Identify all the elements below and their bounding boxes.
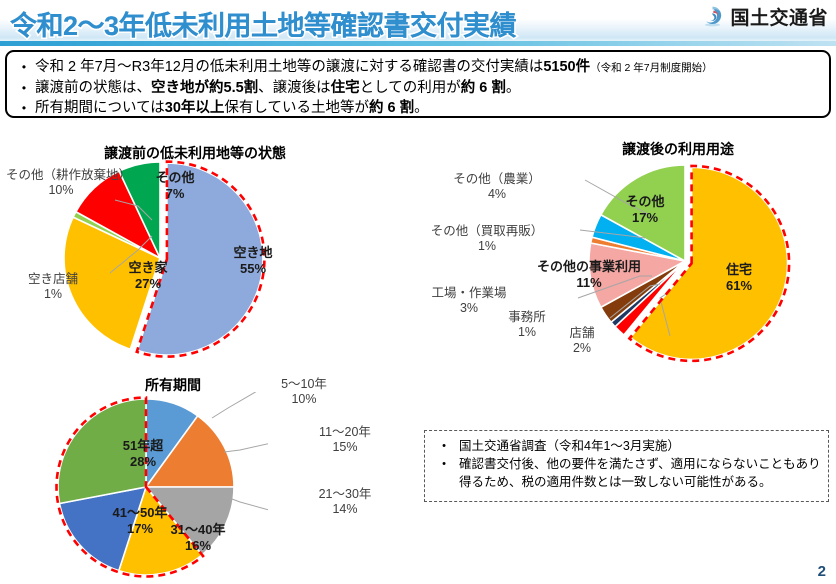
summary-text-run: 所有期間については [35,100,165,116]
slice-value-text: 55% [240,261,266,276]
slice-value-text: 4% [488,187,506,201]
slice-value-text: 7% [166,186,185,201]
slice-label-text: 31～40年 [171,522,226,537]
slice-value-text: 10% [291,392,316,406]
summary-text-run: 。 [506,80,521,96]
slice-value-text: 1% [44,287,62,301]
summary-text-run: 約 6 割 [369,100,414,116]
slice-label-text: 空き店舗 [28,272,78,286]
slice-label-text: その他（農業） [453,172,541,186]
slice-value-text: 27% [135,276,161,291]
bullet-glyph: • [429,455,459,473]
chart-title-after-use: 譲渡後の利用用途 [588,139,768,159]
footnote-row: • 国土交通省調査（令和4年1～3月実施） [429,437,824,455]
slice-label-text: 11～20年 [319,425,371,439]
slice-label-text: 空き地 [233,245,272,260]
summary-bullet-box: • 令和 2 年7月～R3年12月の低未利用土地等の譲渡に対する確認書の交付実績… [5,50,831,118]
footnote-row: • 確認書交付後、他の要件を満たさず、適用にならないこともあり得るため、税の適用… [429,455,824,491]
slice-label-store: 店舗 2% [552,326,612,356]
slice-label-text: 店舗 [569,326,594,340]
slice-label-text: 51年超 [123,438,163,453]
slice-label-over-51-years: 51年超 28% [100,438,186,470]
bullet-glyph: • [429,437,459,455]
slice-label-text: その他（耕作放棄地） [6,168,131,182]
slice-label-text: 41～50年 [113,505,168,520]
summary-text-3: 所有期間については30年以上保有している土地等が約 6 割。 [35,98,429,118]
slice-label-text: その他 [155,170,194,185]
slice-label-text: 住宅 [726,262,752,277]
slice-label-vacant-shop: 空き店舗 1% [0,272,106,302]
bullet-glyph: • [13,98,35,118]
summary-text-1: 令和 2 年7月～R3年12月の低未利用土地等の譲渡に対する確認書の交付実績は5… [35,57,713,78]
summary-bullet-row: • 所有期間については30年以上保有している土地等が約 6 割。 [13,98,823,118]
slice-label-31-40-years: 31～40年 16% [148,522,248,554]
slice-label-other-business: その他の事業利用 11% [520,259,658,291]
slice-label-housing: 住宅 61% [706,262,772,294]
slice-value-text: 28% [130,454,156,469]
leader-line [212,392,264,418]
mlit-swirl-logo-icon [701,5,724,28]
ministry-logo-text: 国土交通省 [730,3,828,30]
slice-label-text: 空き家 [128,260,167,275]
slice-label-text: その他 [625,194,664,209]
slice-value-text: 1% [518,325,536,339]
summary-text-run: （令和 2 年7月制度開始） [590,62,713,74]
slice-label-other: その他 7% [144,170,206,202]
slice-value-text: 10% [48,183,73,197]
slice-label-text: 事務所 [508,310,546,324]
slice-value-text: 3% [460,301,478,315]
slice-value-text: 14% [332,502,357,516]
summary-text-run: としての利用が [360,80,461,96]
bullet-glyph: • [13,78,35,98]
slice-label-text: 工場・作業場 [431,286,506,300]
bullet-glyph: • [13,57,35,77]
slice-label-text: 5～10年 [281,377,327,391]
slice-label-11-20-years: 11～20年 15% [300,425,390,455]
slice-value-text: 11% [576,275,601,290]
slice-value-text: 15% [332,440,357,454]
slice-label-other-farmland: その他 その他（耕作放棄地） 10% [6,168,116,198]
summary-text-run: 住宅 [331,80,360,96]
summary-text-run: 。 [414,100,429,116]
slice-label-21-30-years: 21～30年 14% [300,487,390,517]
summary-bullet-row: • 譲渡前の状態は、空き地が約5.5割、譲渡後は住宅としての利用が約 6 割。 [13,78,823,98]
summary-text-run: 30年以上 [165,100,225,116]
slice-value-text: 16% [185,538,211,553]
ministry-logo: 国土交通省 [701,3,828,30]
summary-text-run: 約 6 割 [461,80,506,96]
slice-value-text: 1% [478,239,496,253]
summary-bullet-row: • 令和 2 年7月～R3年12月の低未利用土地等の譲渡に対する確認書の交付実績… [13,57,823,78]
slice-label-5-10-years: 5～10年 10% [264,377,344,407]
page-title: 令和2～3年低未利用土地等確認書交付実績 [10,4,516,43]
slice-value-text: 61% [726,278,752,293]
summary-text-run: 、譲渡後は [258,80,331,96]
slice-label-text: その他の事業利用 [537,259,641,274]
slice-label-text: 21～30年 [319,487,372,501]
page-number: 2 [818,563,826,580]
slice-value-text: 2% [573,341,591,355]
slice-label-vacant-land: 空き地 55% [213,245,293,277]
summary-text-run: 空き地が約5.5割 [151,80,258,96]
slice-label-text: その他（買取再販） [431,224,544,238]
slice-label-other-agriculture: その他（農業） 4% [437,172,557,202]
summary-text-run: 5150件 [543,59,590,75]
footnote-box: • 国土交通省調査（令和4年1～3月実施） • 確認書交付後、他の要件を満たさず… [424,430,829,502]
slice-label-other-resale: その他（買取再販） 1% [414,224,560,254]
summary-text-2: 譲渡前の状態は、空き地が約5.5割、譲渡後は住宅としての利用が約 6 割。 [35,78,520,98]
summary-text-run: 譲渡前の状態は、 [35,80,151,96]
slice-label-other: その他 17% [614,194,676,226]
leader-line [224,442,268,452]
footnote-text-2: 確認書交付後、他の要件を満たさず、適用にならないこともあり得るため、税の適用件数… [459,455,824,491]
slice-value-text: 17% [632,210,658,225]
footnote-text-1: 国土交通省調査（令和4年1～3月実施） [459,437,680,455]
summary-text-run: 保有している土地等が [224,100,369,116]
slice-label-vacant-house: 空き家 27% [108,260,188,292]
summary-text-run: 令和 2 年7月～R3年12月の低未利用土地等の譲渡に対する確認書の交付実績は [35,59,543,75]
